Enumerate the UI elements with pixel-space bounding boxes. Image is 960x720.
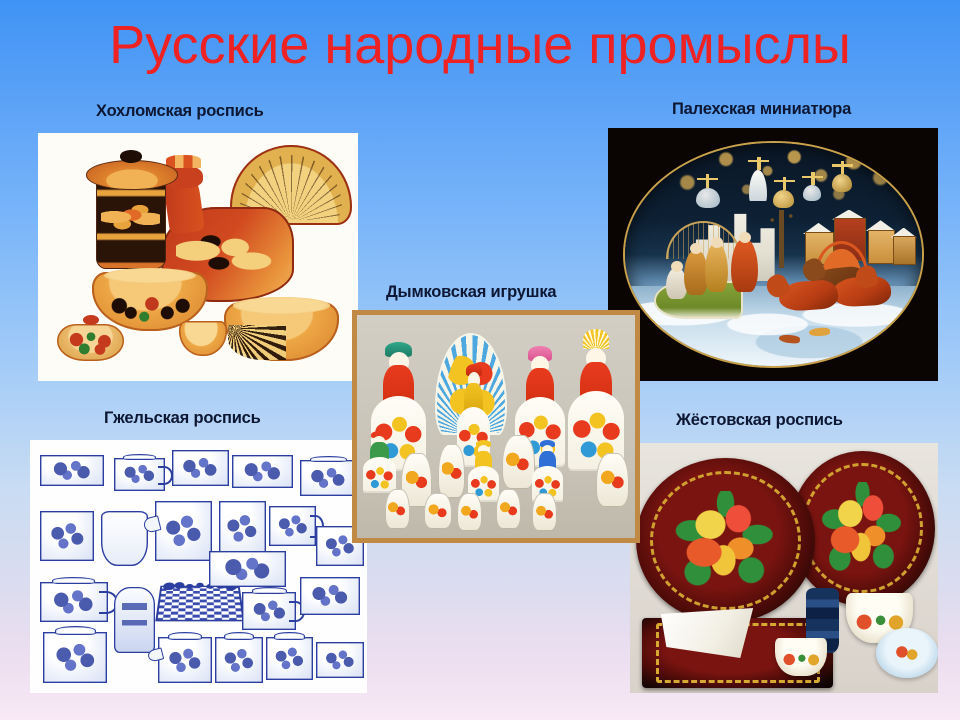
khokhloma-dish-knob xyxy=(83,315,99,325)
gzhel-chess-set xyxy=(155,585,245,620)
zhostovo-blue-plate xyxy=(876,628,938,678)
palekh-figure-head xyxy=(711,237,723,248)
dymkovo-small-figurine xyxy=(363,431,396,493)
dymkovo-scene xyxy=(357,315,635,538)
gzhel-tureen xyxy=(43,632,107,683)
zhostovo-small-bowl xyxy=(775,638,827,676)
gzhel-jug xyxy=(155,501,212,562)
gzhel-cup xyxy=(269,506,316,546)
palekh-dome xyxy=(696,188,720,208)
image-palekh xyxy=(608,128,938,381)
palekh-scene xyxy=(608,128,938,381)
gzhel-figurine xyxy=(114,587,154,653)
palekh-house xyxy=(893,236,916,265)
palekh-dome xyxy=(773,190,794,208)
gzhel-sugar-bowl xyxy=(300,460,357,495)
khokhloma-small-bowl xyxy=(179,321,227,356)
palekh-figure-head xyxy=(671,261,683,272)
palekh-lacquer-oval xyxy=(625,143,922,366)
dymkovo-tiny-figurine xyxy=(532,493,557,531)
dymkovo-crowned-lady-figurine xyxy=(568,333,624,471)
page-title: Русские народные промыслы xyxy=(0,14,960,76)
caption-zhostovo: Жёстовская роспись xyxy=(676,411,843,430)
gzhel-inkwell xyxy=(316,642,363,677)
khokhloma-canister-lid xyxy=(86,160,178,189)
dymkovo-animal-figurine xyxy=(502,435,535,489)
gzhel-boat-dish xyxy=(209,551,287,586)
palekh-dome xyxy=(832,174,851,192)
gzhel-sugar-bowl xyxy=(215,637,262,683)
palekh-bare-tree xyxy=(779,210,784,268)
image-dymkovo xyxy=(352,310,640,543)
dymkovo-animal-figurine xyxy=(596,453,629,507)
gzhel-divided-dish xyxy=(300,577,361,615)
gzhel-footed-bowl xyxy=(172,450,229,485)
gzhel-teapot xyxy=(114,458,165,491)
gzhel-tureen xyxy=(40,582,107,622)
palekh-dog xyxy=(808,327,829,336)
gzhel-bowl xyxy=(40,455,104,485)
gzhel-sugar-bowl xyxy=(242,592,296,630)
palekh-cross-icon xyxy=(706,174,710,187)
caption-gzhel: Гжельская роспись xyxy=(104,409,261,428)
zhostovo-scene xyxy=(630,443,938,693)
image-zhostovo xyxy=(630,443,938,693)
khokhloma-canister-knob xyxy=(120,150,142,162)
dymkovo-tiny-figurine xyxy=(457,493,482,531)
palekh-cross-icon xyxy=(811,172,815,185)
gzhel-clock-house xyxy=(219,501,266,557)
image-khokhloma xyxy=(38,133,358,381)
palekh-dome xyxy=(803,185,821,201)
palekh-cross-icon xyxy=(783,177,787,190)
khokhloma-right-bowl xyxy=(224,302,339,362)
khokhloma-bird-crest xyxy=(166,155,201,167)
khokhloma-scene xyxy=(38,133,358,381)
gzhel-lidded-pot xyxy=(266,637,313,680)
palekh-figure xyxy=(731,239,758,292)
caption-palekh: Палехская миниатюра xyxy=(672,100,851,119)
gzhel-bowl xyxy=(232,455,293,488)
caption-khokhloma: Хохломская роспись xyxy=(96,102,264,121)
khokhloma-covered-dish xyxy=(57,324,124,361)
palekh-house xyxy=(868,230,895,264)
khokhloma-canister xyxy=(96,178,166,270)
caption-dymkovo: Дымковская игрушка xyxy=(386,283,556,302)
gzhel-teapot xyxy=(158,637,212,683)
dymkovo-tiny-figurine xyxy=(496,489,521,529)
image-gzhel xyxy=(30,440,367,693)
zhostovo-tray-main xyxy=(636,458,815,623)
gzhel-vase xyxy=(40,511,94,562)
palekh-cross-icon xyxy=(841,161,845,174)
dymkovo-tiny-figurine xyxy=(424,493,452,529)
slide-canvas: Русские народные промыслы Хохломская рос… xyxy=(0,0,960,720)
dymkovo-animal-figurine xyxy=(438,444,466,498)
dymkovo-tiny-figurine xyxy=(385,489,410,529)
gzhel-candlestick xyxy=(101,511,148,567)
palekh-cross-icon xyxy=(757,157,761,170)
gzhel-scene xyxy=(30,440,367,693)
